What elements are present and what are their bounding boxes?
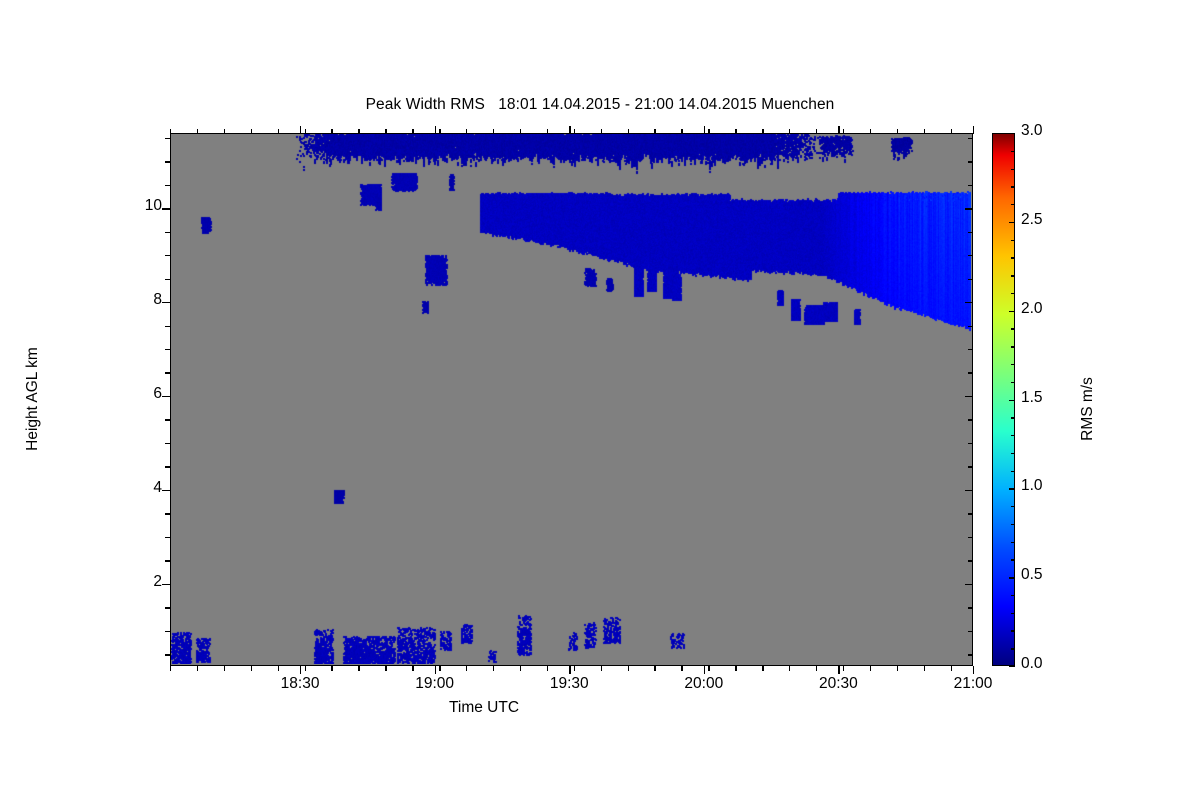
x-minor-tick [466,666,467,671]
x-minor-tick [708,666,709,671]
x-minor-tick-top [197,129,198,134]
colorbar-minor-tick [1011,559,1015,560]
x-minor-tick [816,666,817,671]
y-major-tick [162,490,170,491]
y-minor-tick-right [968,326,973,327]
y-minor-tick-right [968,185,973,186]
x-minor-tick [251,666,252,671]
colorbar-minor-tick [1011,169,1015,170]
x-minor-tick [493,666,494,671]
x-minor-tick-top [224,129,225,134]
colorbar-minor-tick [1011,595,1015,596]
colorbar-minor-tick [1011,204,1015,205]
colorbar-minor-tick [1011,524,1015,525]
colorbar-major-tick [1009,133,1015,134]
x-minor-tick [439,666,440,671]
x-major-tick-top [300,126,301,134]
x-minor-tick [385,666,386,671]
x-major-tick [300,666,301,674]
colorbar-minor-tick [1011,186,1015,187]
x-major-tick-top [973,126,974,134]
x-minor-tick [897,666,898,671]
y-major-tick-right [965,490,973,491]
y-minor-tick [165,607,170,608]
x-minor-tick-top [305,129,306,134]
y-minor-tick [165,654,170,655]
x-minor-tick [278,666,279,671]
x-major-tick [435,666,436,674]
y-major-tick [162,584,170,585]
x-minor-tick-top [870,129,871,134]
y-minor-tick-right [968,161,973,162]
x-minor-tick [601,666,602,671]
colorbar-tick-label-2: 1.0 [1021,477,1077,495]
x-minor-tick-top [601,129,602,134]
x-minor-tick-top [358,129,359,134]
y-tick-label-1: 4 [102,479,162,497]
y-minor-tick [165,138,170,139]
chart-title: Peak Width RMS 18:01 14.04.2015 - 21:00 … [0,96,1200,114]
colorbar-minor-tick [1011,346,1015,347]
x-major-tick [569,666,570,674]
colorbar-tick-label-3: 1.5 [1021,389,1077,407]
colorbar-title: RMS m/s [1079,309,1097,509]
y-minor-tick [165,232,170,233]
colorbar-tick-label-0: 0.0 [1021,655,1077,673]
y-minor-tick [165,279,170,280]
x-minor-tick-top [843,129,844,134]
y-minor-tick [165,161,170,162]
x-axis-title: Time UTC [0,699,1200,717]
x-minor-tick-top [466,129,467,134]
x-minor-tick [762,666,763,671]
y-minor-tick-right [968,607,973,608]
x-major-tick-top [838,126,839,134]
x-minor-tick [628,666,629,671]
x-minor-tick [520,666,521,671]
x-minor-tick [951,666,952,671]
x-minor-tick [305,666,306,671]
y-minor-tick-right [968,372,973,373]
x-minor-tick [681,666,682,671]
x-tick-label-1: 19:00 [375,675,495,693]
x-tick-label-2: 19:30 [509,675,629,693]
x-minor-tick [412,666,413,671]
x-major-tick [838,666,839,674]
x-major-tick-top [435,126,436,134]
colorbar-tick-label-1: 0.5 [1021,566,1077,584]
y-major-tick-right [965,208,973,209]
x-minor-tick-top [170,129,171,134]
x-minor-tick [924,666,925,671]
heatmap-canvas[interactable] [171,134,971,664]
y-minor-tick [165,537,170,538]
x-minor-tick-top [547,129,548,134]
y-minor-tick-right [968,513,973,514]
x-minor-tick-top [278,129,279,134]
x-major-tick-top [569,126,570,134]
y-minor-tick [165,349,170,350]
x-minor-tick [224,666,225,671]
y-minor-tick-right [968,537,973,538]
y-tick-label-4: 10 [102,197,162,215]
x-minor-tick-top [331,129,332,134]
x-minor-tick [170,666,171,671]
y-minor-tick-right [968,443,973,444]
y-minor-tick-right [968,560,973,561]
y-minor-tick [165,255,170,256]
x-minor-tick [870,666,871,671]
x-axis-title-text: Time UTC [449,699,519,717]
x-minor-tick-top [654,129,655,134]
y-minor-tick-right [968,654,973,655]
x-minor-tick-top [493,129,494,134]
x-minor-tick [358,666,359,671]
x-major-tick-top [704,126,705,134]
figure-root: Peak Width RMS 18:01 14.04.2015 - 21:00 … [0,0,1200,800]
x-minor-tick-top [735,129,736,134]
y-minor-tick-right [968,631,973,632]
colorbar-major-tick [1009,222,1015,223]
y-minor-tick [165,443,170,444]
colorbar-tick-label-4: 2.0 [1021,300,1077,318]
x-minor-tick [574,666,575,671]
x-minor-tick [843,666,844,671]
y-minor-tick [165,560,170,561]
x-minor-tick-top [789,129,790,134]
colorbar-minor-tick [1011,648,1015,649]
y-minor-tick-right [968,255,973,256]
y-minor-tick [165,372,170,373]
x-major-tick [704,666,705,674]
y-axis-title: Height AGL km [24,259,42,539]
y-minor-tick-right [968,419,973,420]
colorbar-major-tick [1009,666,1015,667]
x-minor-tick-top [897,129,898,134]
x-minor-tick-top [762,129,763,134]
colorbar-minor-tick [1011,328,1015,329]
y-minor-tick [165,185,170,186]
x-major-tick [973,666,974,674]
y-tick-label-0: 2 [102,573,162,591]
x-minor-tick [197,666,198,671]
x-minor-tick-top [385,129,386,134]
colorbar-minor-tick [1011,257,1015,258]
colorbar-tick-label-5: 2.5 [1021,211,1077,229]
x-minor-tick [789,666,790,671]
colorbar-minor-tick [1011,630,1015,631]
x-minor-tick [735,666,736,671]
x-minor-tick-top [924,129,925,134]
x-tick-label-5: 21:00 [913,675,1033,693]
colorbar-minor-tick [1011,240,1015,241]
y-tick-label-3: 8 [102,291,162,309]
colorbar-minor-tick [1011,435,1015,436]
colorbar-minor-tick [1011,613,1015,614]
colorbar-minor-tick [1011,453,1015,454]
colorbar-major-tick [1009,400,1015,401]
y-minor-tick-right [968,466,973,467]
x-minor-tick-top [681,129,682,134]
x-minor-tick [654,666,655,671]
y-minor-tick [165,466,170,467]
x-minor-tick-top [628,129,629,134]
colorbar-minor-tick [1011,417,1015,418]
colorbar-minor-tick [1011,151,1015,152]
x-minor-tick-top [412,129,413,134]
y-minor-tick-right [968,138,973,139]
colorbar-minor-tick [1011,382,1015,383]
x-minor-tick-top [951,129,952,134]
x-minor-tick-top [816,129,817,134]
colorbar-major-tick [1009,577,1015,578]
y-minor-tick [165,513,170,514]
colorbar-major-tick [1009,488,1015,489]
x-tick-label-4: 20:30 [778,675,898,693]
x-minor-tick-top [520,129,521,134]
colorbar-minor-tick [1011,542,1015,543]
plot-area[interactable] [170,133,973,666]
y-major-tick-right [965,302,973,303]
colorbar-minor-tick [1011,364,1015,365]
y-minor-tick [165,631,170,632]
x-minor-tick-top [708,129,709,134]
y-major-tick [162,302,170,303]
x-minor-tick-top [574,129,575,134]
x-minor-tick [331,666,332,671]
x-tick-label-0: 18:30 [240,675,360,693]
y-major-tick [162,208,170,209]
y-minor-tick [165,326,170,327]
colorbar-minor-tick [1011,471,1015,472]
colorbar-minor-tick [1011,275,1015,276]
y-minor-tick-right [968,279,973,280]
colorbar-tick-label-6: 3.0 [1021,122,1077,140]
y-major-tick-right [965,396,973,397]
y-major-tick [162,396,170,397]
colorbar-minor-tick [1011,506,1015,507]
x-tick-label-3: 20:00 [644,675,764,693]
y-minor-tick [165,419,170,420]
colorbar-major-tick [1009,311,1015,312]
x-minor-tick [547,666,548,671]
x-minor-tick-top [251,129,252,134]
y-minor-tick-right [968,232,973,233]
x-minor-tick-top [439,129,440,134]
y-minor-tick-right [968,349,973,350]
y-tick-label-2: 6 [102,385,162,403]
colorbar-minor-tick [1011,293,1015,294]
y-major-tick-right [965,584,973,585]
